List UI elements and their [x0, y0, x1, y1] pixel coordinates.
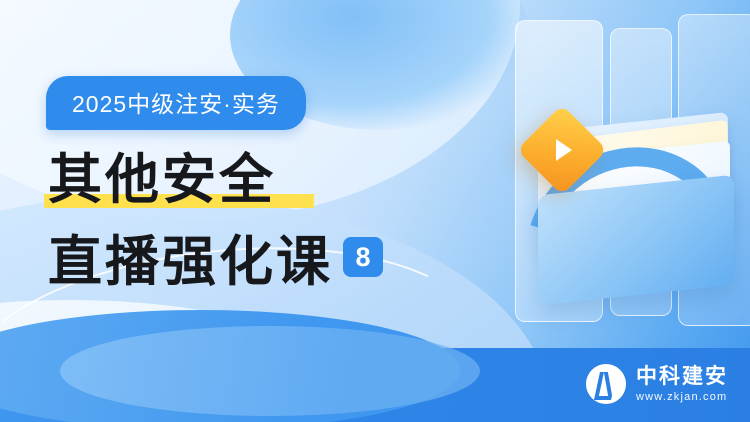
folder-front-icon [538, 175, 734, 306]
play-triangle-icon [556, 139, 572, 161]
title-line-1-row: 其他安全 [48, 148, 478, 212]
play-cube-inner [530, 118, 594, 182]
zkjan-logo-icon [586, 364, 626, 404]
course-banner: 2025中级注安·实务 其他安全 直播强化课8 中科建安 www.zkjan.c… [0, 0, 750, 422]
category-pill: 2025中级注安·实务 [46, 76, 306, 130]
title-line-2: 直播强化课 [48, 230, 333, 293]
brand-name: 中科建安 [636, 366, 728, 387]
title-line-2-row: 直播强化课8 [48, 230, 478, 294]
title-block: 其他安全 直播强化课8 [48, 148, 478, 294]
play-cube-icon [517, 105, 608, 196]
episode-badge: 8 [343, 237, 383, 277]
brand-url: www.zkjan.com [636, 392, 728, 403]
brand-text-block: 中科建安 www.zkjan.com [636, 366, 728, 403]
brand-logo: 中科建安 www.zkjan.com [586, 364, 728, 404]
title-line-1: 其他安全 [48, 148, 276, 211]
